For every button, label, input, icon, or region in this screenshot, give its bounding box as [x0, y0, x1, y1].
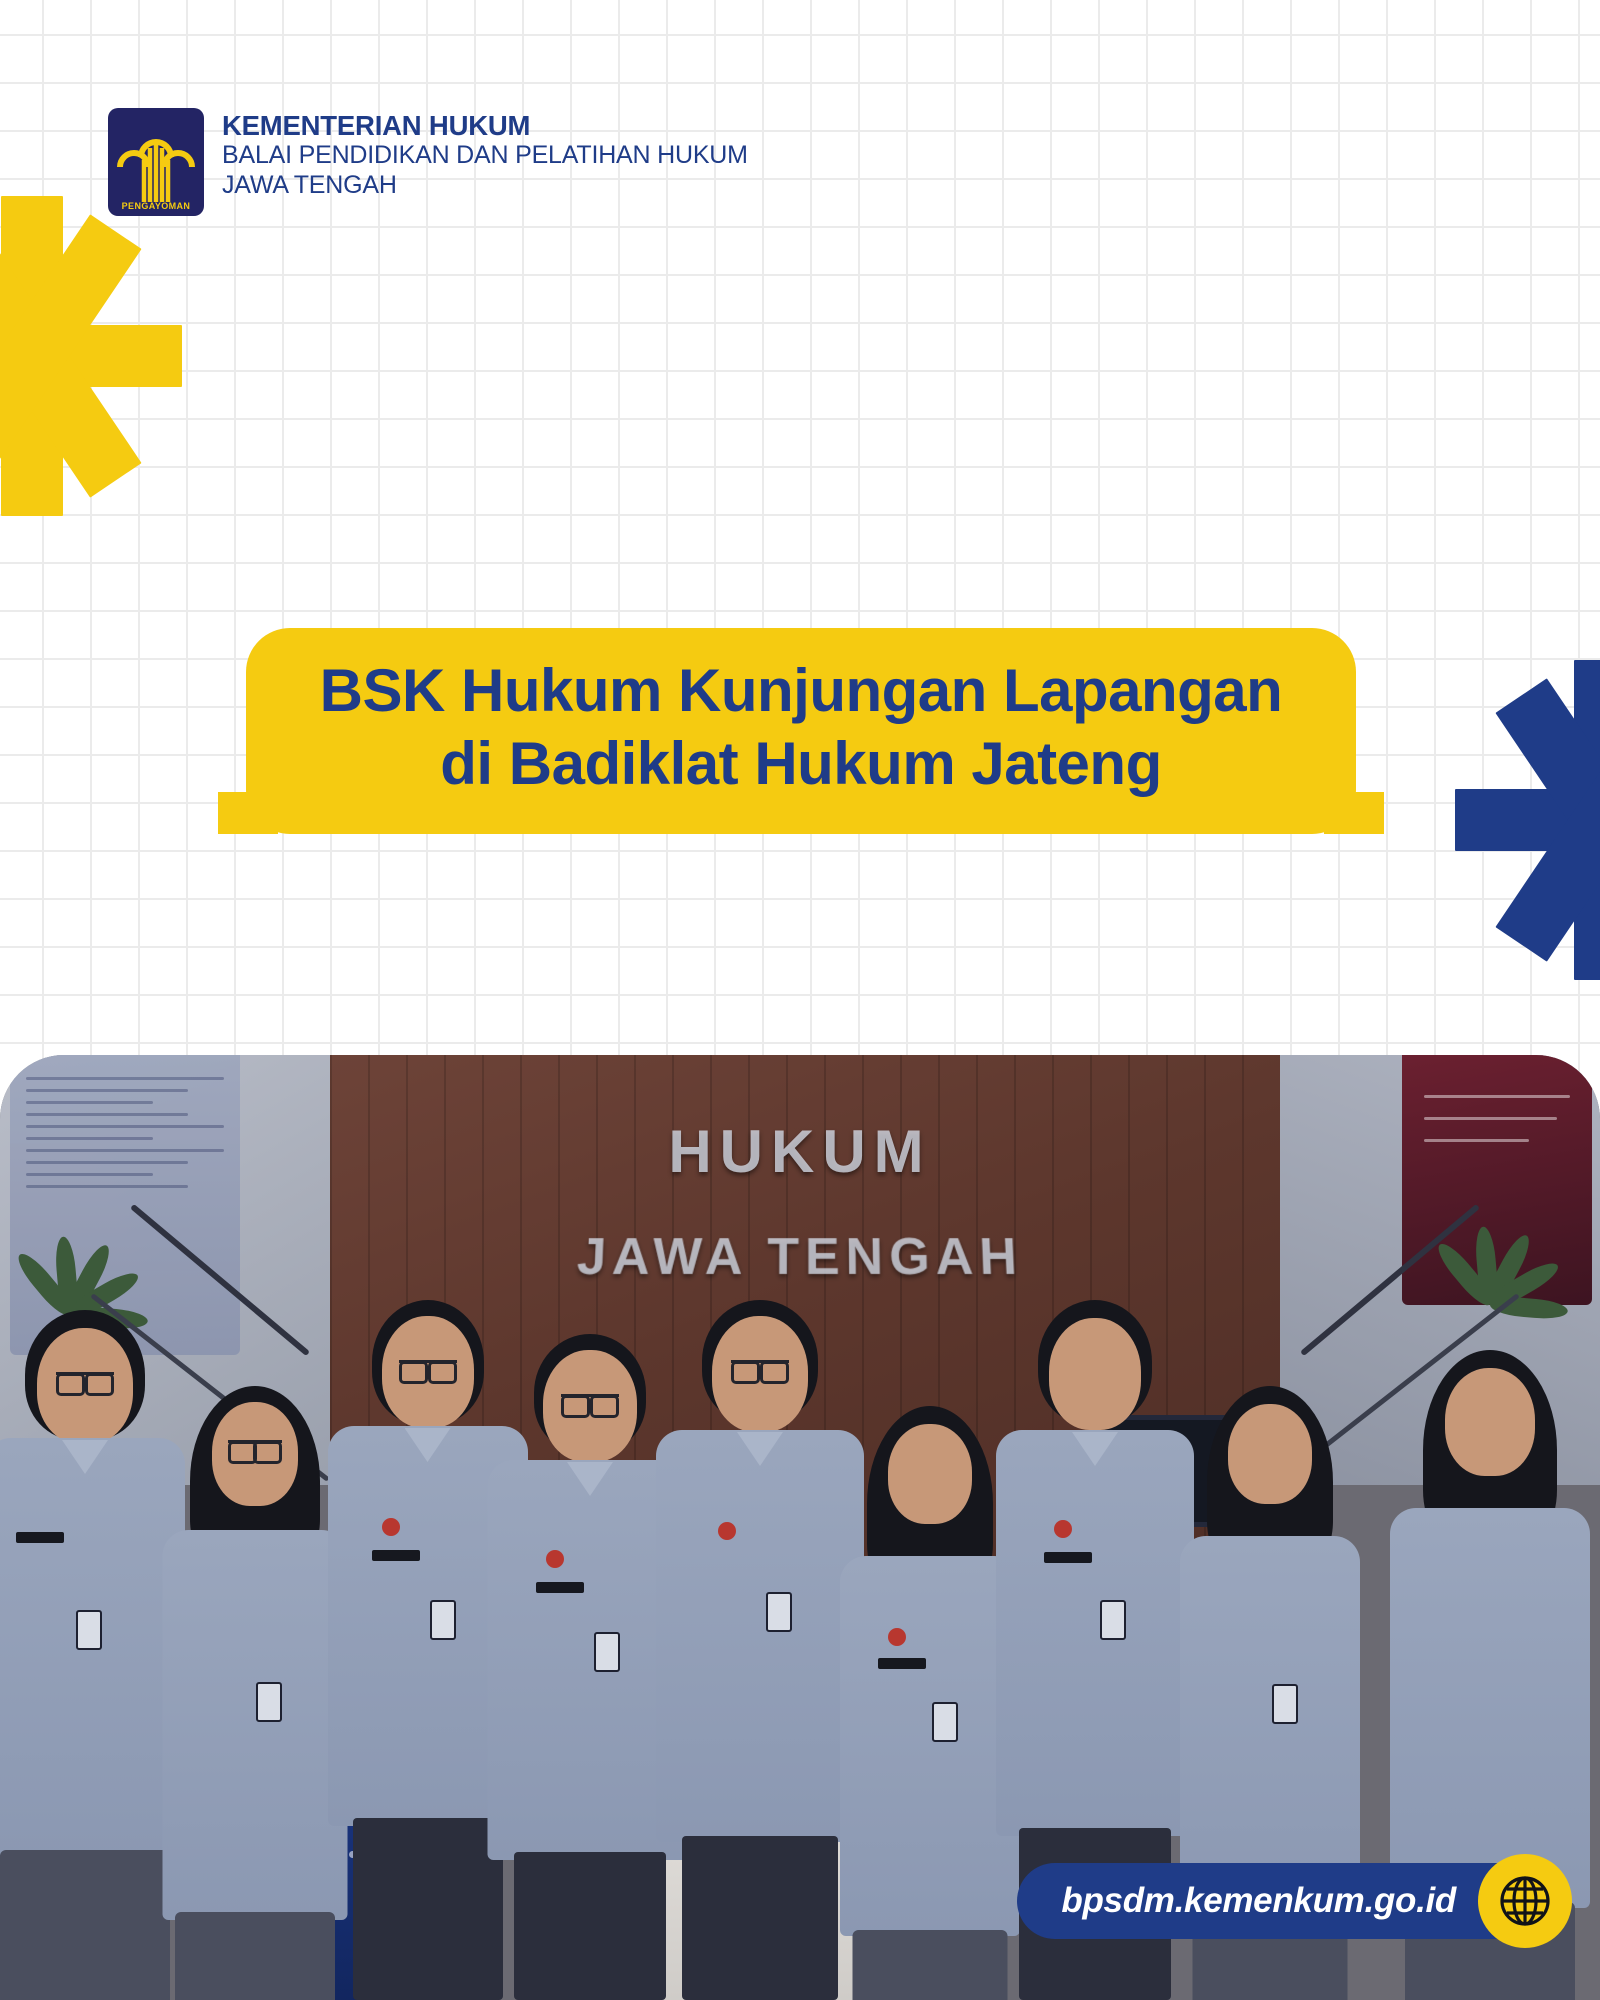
website-badge[interactable]: bpsdm.kemenkum.go.id — [1017, 1854, 1572, 1948]
photo-person — [160, 1340, 350, 2000]
globe-icon — [1478, 1854, 1572, 1948]
ministry-name: KEMENTERIAN HUKUM — [222, 110, 748, 141]
title-banner: BSK Hukum Kunjungan Lapangan di Badiklat… — [246, 628, 1356, 834]
asterisk-decor-yellow — [0, 196, 182, 516]
photo-person — [0, 1310, 180, 2000]
asterisk-decor-navy — [1455, 660, 1600, 980]
header-branding: PENGAYOMAN KEMENTERIAN HUKUM BALAI PENDI… — [108, 108, 748, 216]
logo-caption: PENGAYOMAN — [108, 201, 204, 211]
photo-person — [840, 1350, 1020, 2000]
wall-sign-line2: JAWA TENGAH — [0, 1227, 1600, 1287]
website-url[interactable]: bpsdm.kemenkum.go.id — [1017, 1863, 1534, 1939]
title-line-2: di Badiklat Hukum Jateng — [300, 727, 1302, 800]
title-line-1: BSK Hukum Kunjungan Lapangan — [300, 654, 1302, 727]
unit-name-line1: BALAI PENDIDIKAN DAN PELATIHAN HUKUM — [222, 141, 748, 171]
pengayoman-banyan-tree-icon: PENGAYOMAN — [108, 108, 204, 216]
wall-sign-line1: HUKUM — [0, 1117, 1600, 1186]
unit-name-line2: JAWA TENGAH — [222, 171, 748, 201]
photo-person — [660, 1300, 860, 2000]
header-text-block: KEMENTERIAN HUKUM BALAI PENDIDIKAN DAN P… — [222, 108, 748, 200]
